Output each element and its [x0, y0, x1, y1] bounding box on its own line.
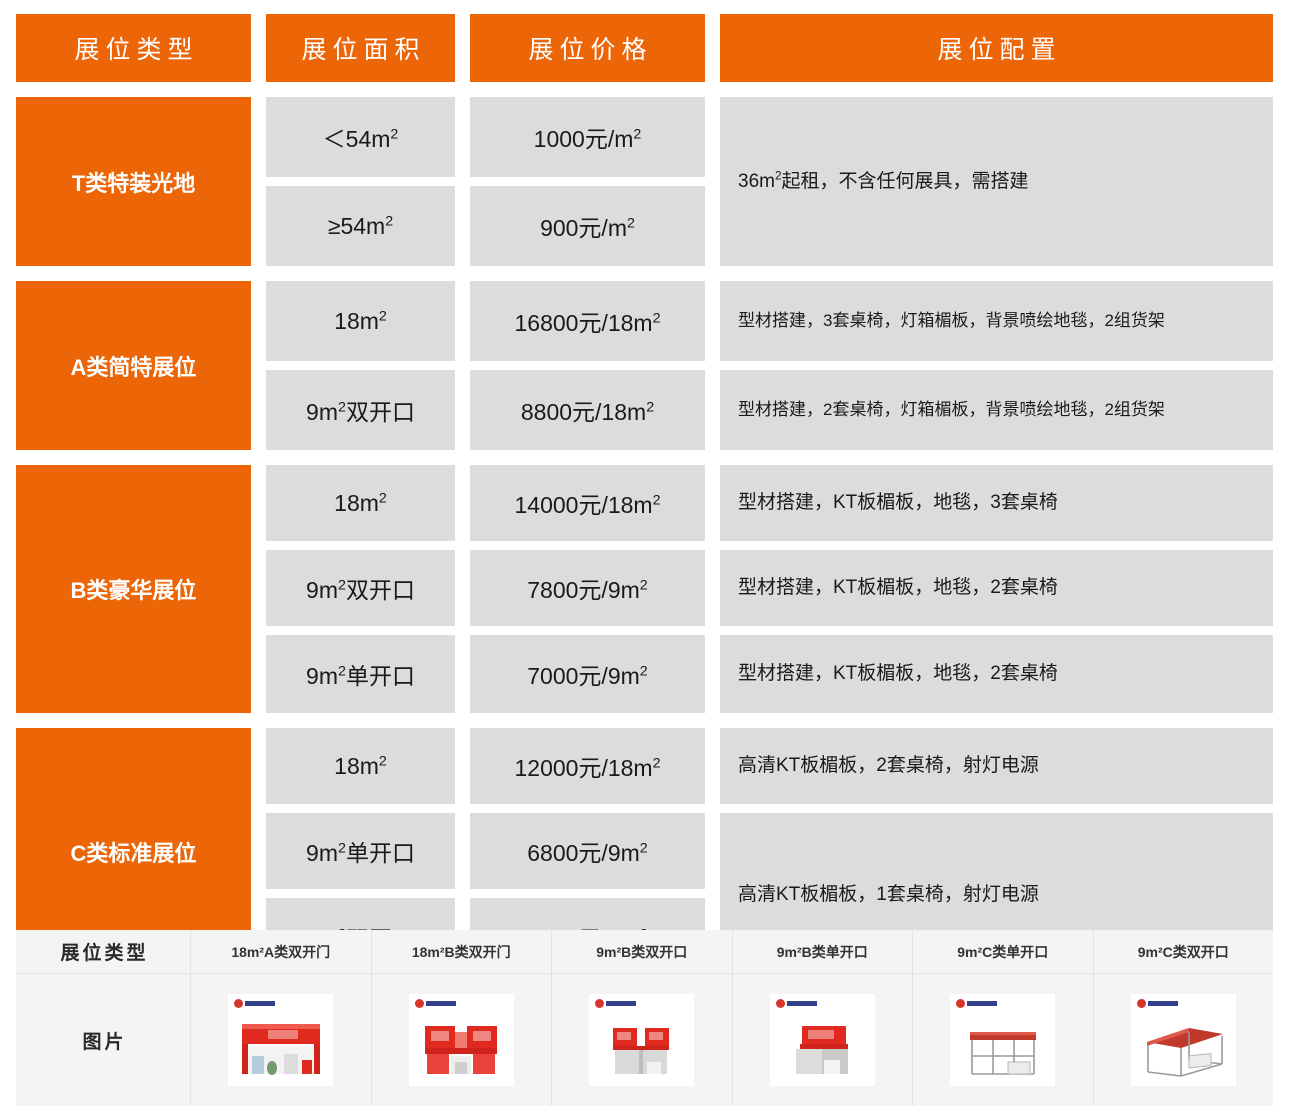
price-value: 7800元/9m2: [527, 571, 647, 605]
table-row: 9m2单开口 6800元/9m2: [266, 813, 705, 889]
table-row: 18m2 14000元/18m2: [266, 465, 705, 541]
gallery-column-label: 18m²B类双开门: [372, 930, 552, 974]
price-value: 12000元/18m2: [514, 749, 660, 783]
area-value: 9m2双开口: [306, 571, 415, 605]
gallery-column-2[interactable]: 9m²B类双开口: [552, 930, 733, 1106]
price-cell: 14000元/18m2: [470, 465, 705, 541]
price-cell: 7800元/9m2: [470, 550, 705, 626]
area-value: 9m2单开口: [306, 657, 415, 691]
brand-logo-icon: [234, 999, 275, 1008]
category-cell-b: B类豪华展位: [16, 465, 251, 713]
price-value: 7000元/9m2: [527, 657, 647, 691]
price-value: 900元/m2: [540, 209, 635, 243]
table-section-b: B类豪华展位 18m2 14000元/18m2 9m2双开口 7800元/9m2…: [0, 465, 1289, 713]
header-booth-type: 展位类型: [16, 14, 251, 82]
booth-illustration: [409, 1016, 514, 1080]
area-cell: 9m2单开口: [266, 635, 455, 713]
price-value: 8800元/18m2: [521, 393, 654, 427]
table-row: 9m2单开口 7000元/9m2: [266, 635, 705, 713]
gallery-header-booth-type: 展位类型: [16, 930, 190, 974]
header-booth-price: 展位价格: [470, 14, 705, 82]
table-row: 18m2 16800元/18m2: [266, 281, 705, 361]
table-section-t: T类特装光地 ＜54m2 1000元/m2 ≥54m2 900元/m2 36m2…: [0, 97, 1289, 266]
area-value: ≥54m2: [328, 213, 393, 240]
config-cell: 高清KT板楣板，2套桌椅，射灯电源: [720, 728, 1273, 804]
price-cell: 1000元/m2: [470, 97, 705, 177]
gallery-cell: [733, 974, 913, 1106]
brand-logo-icon: [595, 999, 636, 1008]
price-value: 1000元/m2: [534, 120, 642, 154]
booth-price-table-page: 展位类型 展位面积 展位价格 展位配置 T类特装光地 ＜54m2 1000元/m…: [0, 0, 1289, 1120]
gallery-column-1[interactable]: 18m²B类双开门: [372, 930, 553, 1106]
area-value: 18m2: [334, 490, 387, 517]
area-cell: 18m2: [266, 465, 455, 541]
gallery-cell: [913, 974, 1093, 1106]
config-cell: 型材搭建，KT板楣板，地毯，3套桌椅: [720, 465, 1273, 541]
config-cell: 36m2起租，不含任何展具，需搭建: [720, 97, 1273, 266]
price-cell: 900元/m2: [470, 186, 705, 266]
gallery-cell: [372, 974, 552, 1106]
gallery-column-3[interactable]: 9m²B类单开口: [733, 930, 914, 1106]
gallery-column-5[interactable]: 9m²C类双开口: [1094, 930, 1274, 1106]
table-row: 9m2双开口 8800元/18m2: [266, 370, 705, 450]
area-cell: ≥54m2: [266, 186, 455, 266]
booth-illustration: [1131, 1016, 1236, 1080]
price-cell: 12000元/18m2: [470, 728, 705, 804]
price-cell: 7000元/9m2: [470, 635, 705, 713]
table-header-row: 展位类型 展位面积 展位价格 展位配置: [0, 14, 1289, 82]
gallery-row-label-image: 图片: [16, 974, 190, 1106]
gallery-cell: [1094, 974, 1274, 1106]
area-value: 9m2双开口: [306, 393, 415, 427]
booth-illustration: [950, 1016, 1055, 1080]
area-cell: 9m2单开口: [266, 813, 455, 889]
gallery-column-label: 18m²A类双开门: [191, 930, 371, 974]
price-value: 16800元/18m2: [514, 304, 660, 338]
gallery-column-label: 9m²B类双开口: [552, 930, 732, 974]
booth-illustration: [589, 1016, 694, 1080]
main-pricing-table: 展位类型 展位面积 展位价格 展位配置 T类特装光地 ＜54m2 1000元/m…: [0, 0, 1289, 976]
config-cell: 型材搭建，3套桌椅，灯箱楣板，背景喷绘地毯，2组货架: [720, 281, 1273, 361]
gallery-column-4[interactable]: 9m²C类单开口: [913, 930, 1094, 1106]
gallery-column-label: 9m²C类单开口: [913, 930, 1093, 974]
booth-thumbnail-9sqm-b-double-open[interactable]: [589, 994, 694, 1086]
table-section-a: A类简特展位 18m2 16800元/18m2 9m2双开口 8800元/18m…: [0, 281, 1289, 450]
config-cell: 型材搭建，KT板楣板，地毯，2套桌椅: [720, 635, 1273, 713]
price-value: 14000元/18m2: [514, 486, 660, 520]
booth-illustration: [770, 1016, 875, 1080]
gallery-column-0[interactable]: 18m²A类双开门: [191, 930, 372, 1106]
area-cell: 18m2: [266, 281, 455, 361]
category-cell-t: T类特装光地: [16, 97, 251, 266]
price-cell: 8800元/18m2: [470, 370, 705, 450]
header-booth-area: 展位面积: [266, 14, 455, 82]
area-cell: 9m2双开口: [266, 550, 455, 626]
gallery-column-label: 9m²C类双开口: [1094, 930, 1274, 974]
brand-logo-icon: [415, 999, 456, 1008]
booth-thumbnail-9sqm-b-single-open[interactable]: [770, 994, 875, 1086]
price-cell: 16800元/18m2: [470, 281, 705, 361]
booth-thumbnail-9sqm-c-single-open[interactable]: [950, 994, 1055, 1086]
area-value: 18m2: [334, 308, 387, 335]
area-cell: 18m2: [266, 728, 455, 804]
price-value: 6800元/9m2: [527, 834, 647, 868]
header-booth-config: 展位配置: [720, 14, 1273, 82]
config-text: 36m2起租，不含任何展具，需搭建: [738, 168, 1029, 196]
gallery-label-column: 展位类型 图片: [16, 930, 191, 1106]
area-value: ＜54m2: [323, 120, 399, 154]
area-value: 18m2: [334, 753, 387, 780]
price-cell: 6800元/9m2: [470, 813, 705, 889]
config-cell: 型材搭建，KT板楣板，地毯，2套桌椅: [720, 550, 1273, 626]
booth-thumbnail-18sqm-a-double-door[interactable]: [228, 994, 333, 1086]
table-row: ＜54m2 1000元/m2: [266, 97, 705, 177]
brand-logo-icon: [776, 999, 817, 1008]
config-cell: 型材搭建，2套桌椅，灯箱楣板，背景喷绘地毯，2组货架: [720, 370, 1273, 450]
table-row: 9m2双开口 7800元/9m2: [266, 550, 705, 626]
category-cell-a: A类简特展位: [16, 281, 251, 450]
brand-logo-icon: [956, 999, 997, 1008]
booth-illustration: [228, 1016, 333, 1080]
area-cell: 9m2双开口: [266, 370, 455, 450]
booth-thumbnail-9sqm-c-double-open[interactable]: [1131, 994, 1236, 1086]
area-value: 9m2单开口: [306, 834, 415, 868]
gallery-cell: [552, 974, 732, 1106]
area-cell: ＜54m2: [266, 97, 455, 177]
booth-image-gallery: 展位类型 图片 18m²A类双开门: [16, 930, 1273, 1106]
gallery-column-label: 9m²B类单开口: [733, 930, 913, 974]
brand-logo-icon: [1137, 999, 1178, 1008]
table-row: 18m2 12000元/18m2: [266, 728, 705, 804]
table-row: ≥54m2 900元/m2: [266, 186, 705, 266]
gallery-cell: [191, 974, 371, 1106]
booth-thumbnail-18sqm-b-double-door[interactable]: [409, 994, 514, 1086]
